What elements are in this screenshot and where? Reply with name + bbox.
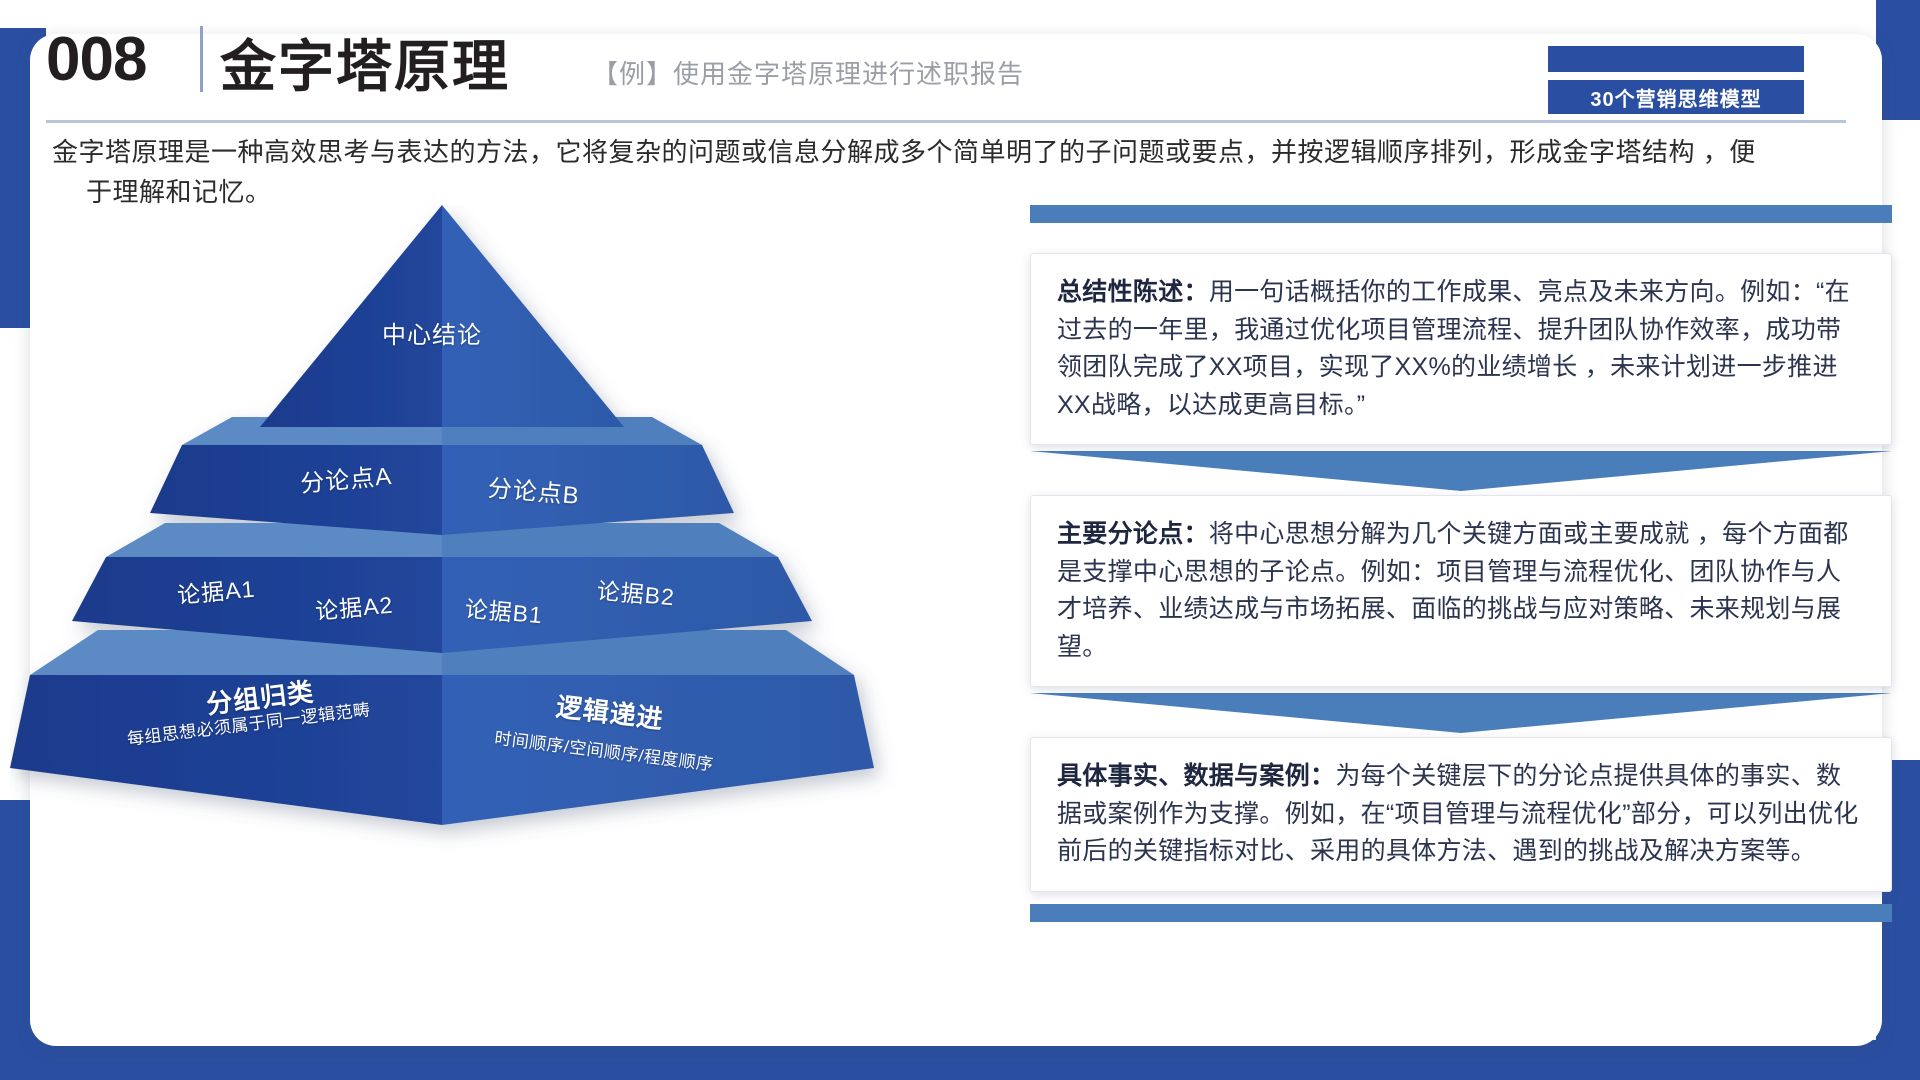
- pyramid-diagram: 中心结论 分论点A 分论点B 论据A1 论据A2 论据B1 论据B2 分组归类 …: [10, 205, 1020, 995]
- pyramid-body: [10, 205, 874, 825]
- tier2-face-right: [442, 445, 734, 535]
- panel-2-heading: 主要分论点: [1057, 520, 1184, 548]
- page-subtitle: 【例】使用金字塔原理进行述职报告: [592, 54, 1024, 91]
- slide-header: 008 金字塔原理 【例】使用金字塔原理进行述职报告 30个营销思维模型: [20, 8, 1900, 116]
- panel-1-heading: 总结性陈述: [1057, 278, 1184, 306]
- panel-2-colon: ：: [1184, 520, 1209, 548]
- explanation-panel-1[interactable]: 总结性陈述：用一句话概括你的工作成果、亮点及未来方向。例如：“在过去的一年里，我…: [1030, 253, 1892, 445]
- intro-line-1: 金字塔原理是一种高效思考与表达的方法，它将复杂的问题或信息分解成多个简单明了的子…: [52, 137, 1756, 167]
- header-divider: [200, 26, 203, 92]
- header-rule: [46, 120, 1846, 123]
- tier4-face-left: [10, 675, 442, 825]
- page-title: 金字塔原理: [220, 22, 510, 103]
- series-badge: 30个营销思维模型: [1548, 80, 1804, 114]
- explanation-panel-2[interactable]: 主要分论点：将中心思想分解为几个关键方面或主要成就 ，每个方面都是支撑中心思想的…: [1030, 495, 1892, 687]
- badge-top-bar: [1548, 46, 1804, 72]
- explanation-panel-3[interactable]: 具体事实、数据与案例：为每个关键层下的分论点提供具体的事实、数据或案例作为支撑。…: [1030, 737, 1892, 892]
- slide-number: 008: [46, 24, 146, 95]
- panel-3-colon: ：: [1310, 762, 1335, 790]
- panel-2-text: 主要分论点：将中心思想分解为几个关键方面或主要成就 ，每个方面都是支撑中心思想的…: [1057, 516, 1865, 666]
- tier4-face-right: [442, 675, 874, 825]
- panel-3-heading: 具体事实、数据与案例: [1057, 762, 1310, 790]
- tier1-face-right: [442, 205, 624, 427]
- connector-chevron-2: [1030, 687, 1892, 737]
- intro-paragraph: 金字塔原理是一种高效思考与表达的方法，它将复杂的问题或信息分解成多个简单明了的子…: [52, 132, 1812, 213]
- explanation-column: 总结性陈述：用一句话概括你的工作成果、亮点及未来方向。例如：“在过去的一年里，我…: [1030, 205, 1892, 1005]
- panel-1-colon: ：: [1184, 278, 1209, 306]
- column-bottom-bar: [1030, 904, 1892, 922]
- connector-chevron-1: [1030, 445, 1892, 495]
- tier1-face-left: [260, 205, 442, 427]
- panel-1-text: 总结性陈述：用一句话概括你的工作成果、亮点及未来方向。例如：“在过去的一年里，我…: [1057, 274, 1865, 424]
- slide-root: 008 金字塔原理 【例】使用金字塔原理进行述职报告 30个营销思维模型 金字塔…: [0, 0, 1920, 1080]
- tier2-face-left: [150, 445, 442, 535]
- bottom-accent-band: [0, 1040, 1920, 1080]
- panel-3-text: 具体事实、数据与案例：为每个关键层下的分论点提供具体的事实、数据或案例作为支撑。…: [1057, 758, 1865, 871]
- column-top-bar: [1030, 205, 1892, 223]
- pyramid-svg: [10, 205, 1020, 995]
